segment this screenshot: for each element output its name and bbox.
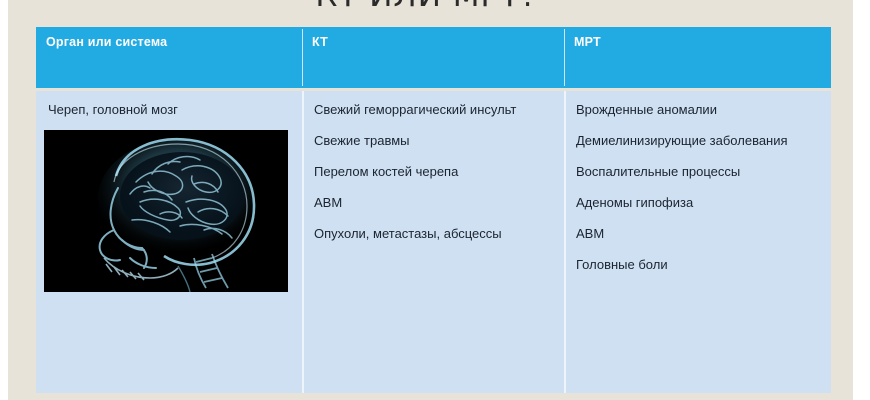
column-header-mrt-label: МРТ	[574, 35, 601, 49]
column-header-kt-label: КТ	[312, 35, 328, 49]
list-item: Опухоли, метастазы, абсцессы	[314, 225, 552, 242]
list-item: Перелом костей черепа	[314, 163, 552, 180]
list-item: Свежий геморрагический инсульт	[314, 101, 552, 118]
list-item: Аденомы гипофиза	[576, 194, 819, 211]
cell-kt: Свежий геморрагический инсульт Свежие тр…	[302, 91, 564, 393]
column-header-organ-label: Орган или система	[46, 35, 167, 49]
column-header-kt: КТ	[302, 27, 564, 88]
column-header-organ: Орган или система	[36, 27, 302, 88]
left-margin-strip	[0, 0, 8, 400]
skull-brain-xray-graphic	[44, 130, 288, 292]
list-item: Головные боли	[576, 256, 819, 273]
cell-organ: Череп, головной мозг	[36, 91, 302, 393]
list-item: АВМ	[314, 194, 552, 211]
right-margin-strip	[853, 0, 870, 400]
cell-mrt: Врожденные аномалии Демиелинизирующие за…	[564, 91, 831, 393]
skull-brain-xray-image	[44, 130, 288, 292]
list-item: Свежие травмы	[314, 132, 552, 149]
list-item: Демиелинизирующие заболевания	[576, 132, 819, 149]
organ-name: Череп, головной мозг	[48, 101, 290, 118]
table-header-row: Орган или система КТ МРТ	[36, 27, 831, 88]
list-item: Воспалительные процессы	[576, 163, 819, 180]
slide-title: КТ ИЛИ МРТ?	[0, 0, 853, 14]
column-header-mrt: МРТ	[564, 27, 831, 88]
comparison-table: Орган или система КТ МРТ Череп, головной…	[36, 27, 831, 393]
list-item: АВМ	[576, 225, 819, 242]
slide-canvas: КТ ИЛИ МРТ? Орган или система КТ МРТ Чер…	[0, 0, 870, 400]
list-item: Врожденные аномалии	[576, 101, 819, 118]
table-row: Череп, головной мозг	[36, 88, 831, 393]
